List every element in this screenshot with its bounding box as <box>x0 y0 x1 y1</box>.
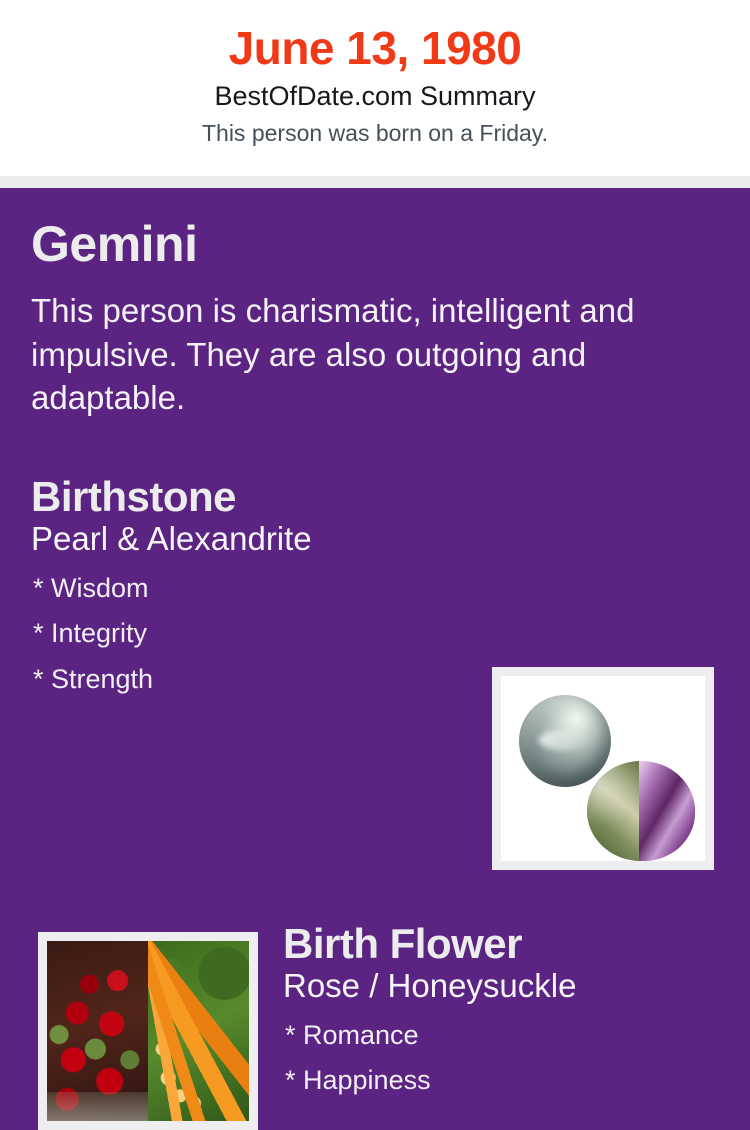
birthstone-names: Pearl & Alexandrite <box>31 519 471 558</box>
summary-card: June 13, 1980 BestOfDate.com Summary Thi… <box>0 0 750 1000</box>
header-divider <box>0 176 750 188</box>
card-header: June 13, 1980 BestOfDate.com Summary Thi… <box>0 0 750 176</box>
zodiac-sign-title: Gemini <box>31 219 197 269</box>
birth-flower-trait-list: * Romance * Happiness <box>283 1005 723 1104</box>
alexandrite-gem-icon <box>587 761 695 861</box>
birthstone-section: Birthstone Pearl & Alexandrite * Wisdom … <box>31 476 471 702</box>
birth-flower-image-frame <box>38 932 258 1130</box>
birthstone-image-frame <box>492 667 714 870</box>
details-panel: Gemini This person is charismatic, intel… <box>0 188 750 1000</box>
birth-flower-photo <box>47 941 249 1121</box>
birthstone-photo <box>501 676 705 861</box>
birthstone-trait-list: * Wisdom * Integrity * Strength <box>31 558 471 702</box>
list-item: * Happiness <box>285 1058 723 1103</box>
list-item: * Integrity <box>33 611 471 656</box>
weekday-note: This person was born on a Friday. <box>0 112 750 146</box>
honeysuckle-flower-icon <box>148 941 249 1121</box>
zodiac-description: This person is charismatic, intelligent … <box>31 289 699 420</box>
rose-flower-icon <box>47 941 148 1121</box>
site-subtitle: BestOfDate.com Summary <box>0 72 750 112</box>
list-item: * Wisdom <box>33 566 471 611</box>
birthstone-heading: Birthstone <box>31 476 471 519</box>
list-item: * Strength <box>33 657 471 702</box>
birth-flower-heading: Birth Flower <box>283 923 723 966</box>
birth-flower-section: Birth Flower Rose / Honeysuckle * Romanc… <box>283 923 723 1104</box>
list-item: * Romance <box>285 1013 723 1058</box>
birth-flower-names: Rose / Honeysuckle <box>283 966 723 1005</box>
page-title: June 13, 1980 <box>0 0 750 72</box>
